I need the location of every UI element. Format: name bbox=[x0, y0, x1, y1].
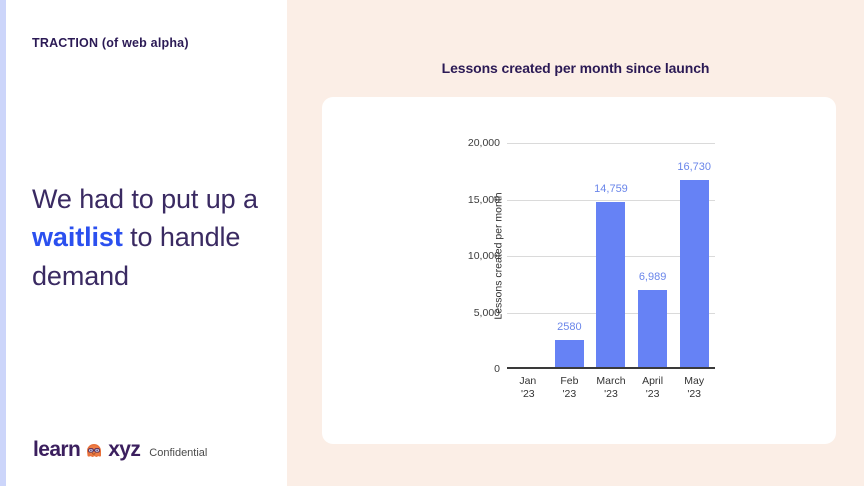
bar-value-label: 6,989 bbox=[639, 271, 667, 283]
x-axis-tick-line: '23 bbox=[596, 388, 625, 401]
bar-slot: 6,989April'23 bbox=[632, 143, 674, 369]
bar-series-group: Jan'232580Feb'2314,759March'236,989April… bbox=[507, 143, 715, 369]
bar-value-label: 2580 bbox=[557, 321, 581, 333]
bar[interactable] bbox=[638, 290, 667, 369]
x-axis-tick-line: '23 bbox=[684, 388, 704, 401]
headline-accent-waitlist: waitlist bbox=[32, 222, 123, 252]
chart-region: Lessons created per month since launch L… bbox=[287, 0, 864, 486]
section-eyebrow-label: TRACTION (of web alpha) bbox=[32, 36, 189, 50]
x-axis-baseline bbox=[507, 367, 715, 369]
x-axis-tick-line: April bbox=[642, 375, 663, 388]
x-axis-tick-line: '23 bbox=[642, 388, 663, 401]
bar-value-label: 16,730 bbox=[677, 161, 711, 173]
chart-card: Lessons created per month 05,00010,00015… bbox=[322, 97, 836, 444]
slide-canvas: TRACTION (of web alpha) We had to put up… bbox=[0, 0, 864, 486]
left-text-panel: TRACTION (of web alpha) We had to put up… bbox=[6, 0, 287, 486]
bar[interactable] bbox=[596, 202, 625, 369]
y-axis-tick-label: 15,000 bbox=[468, 194, 500, 206]
y-axis-tick-label: 20,000 bbox=[468, 137, 500, 149]
headline-text-before: We had to put up a bbox=[32, 184, 258, 214]
x-axis-tick-line: March bbox=[596, 375, 625, 388]
bar-value-label: 14,759 bbox=[594, 183, 628, 195]
x-axis-tick-line: Jan bbox=[519, 375, 536, 388]
brand-logo-lockup: learn xyz Confidential bbox=[33, 438, 207, 462]
x-axis-tick-label: March'23 bbox=[596, 375, 625, 401]
bar-slot: 16,730May'23 bbox=[673, 143, 715, 369]
logo-word-xyz: xyz bbox=[108, 438, 140, 462]
bar[interactable] bbox=[680, 180, 709, 369]
headline-statement: We had to put up a waitlist to handle de… bbox=[32, 180, 278, 295]
y-axis-tick-label: 0 bbox=[494, 363, 500, 375]
x-axis-tick-line: Feb bbox=[560, 375, 578, 388]
x-axis-tick-line: '23 bbox=[519, 388, 536, 401]
x-axis-tick-label: April'23 bbox=[642, 375, 663, 401]
confidential-label: Confidential bbox=[149, 447, 207, 459]
logo-word-learn: learn bbox=[33, 438, 80, 462]
bar-slot: 14,759March'23 bbox=[590, 143, 632, 369]
x-axis-tick-label: Jan'23 bbox=[519, 375, 536, 401]
x-axis-tick-label: Feb'23 bbox=[560, 375, 578, 401]
bar-slot: 2580Feb'23 bbox=[549, 143, 591, 369]
bar-chart-plot-area: Lessons created per month 05,00010,00015… bbox=[507, 143, 715, 369]
learnxyz-mascot-icon bbox=[83, 440, 105, 462]
y-axis-tick-label: 5,000 bbox=[474, 307, 500, 319]
x-axis-tick-line: May bbox=[684, 375, 704, 388]
x-axis-tick-label: May'23 bbox=[684, 375, 704, 401]
bar-slot: Jan'23 bbox=[507, 143, 549, 369]
bar[interactable] bbox=[555, 340, 584, 369]
y-axis-tick-label: 10,000 bbox=[468, 250, 500, 262]
chart-title: Lessons created per month since launch bbox=[287, 60, 864, 76]
x-axis-tick-line: '23 bbox=[560, 388, 578, 401]
